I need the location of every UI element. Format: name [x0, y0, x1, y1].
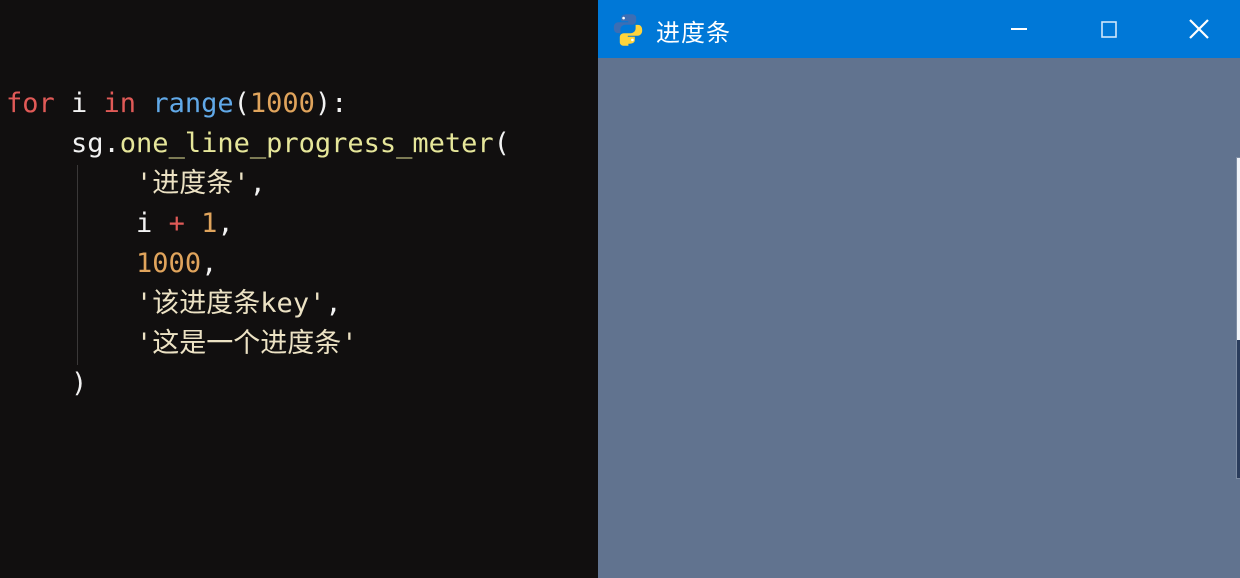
close-icon[interactable]	[1168, 0, 1230, 58]
code-token: +	[169, 208, 202, 239]
minimize-icon[interactable]	[988, 0, 1050, 58]
code-token: in	[104, 88, 153, 119]
progress-meter-window: 进度条 这是一个进度条 434 of 1000	[598, 0, 1240, 578]
code-editor-pane[interactable]: for i in range(1000): sg.one_line_progre…	[0, 0, 598, 578]
maximize-icon[interactable]	[1078, 0, 1140, 58]
code-token: (	[494, 128, 510, 159]
code-line: i + 1,	[0, 204, 598, 244]
code-token: sg.	[6, 128, 120, 159]
code-token: ,	[325, 288, 341, 319]
code-token: 1000	[136, 248, 201, 279]
code-line: '进度条',	[0, 164, 598, 204]
code-token	[6, 328, 136, 359]
code-token: 1	[201, 208, 217, 239]
window-titlebar[interactable]: 进度条	[598, 0, 1240, 58]
code-token: ,	[217, 208, 233, 239]
code-line: )	[0, 364, 598, 404]
code-token	[6, 288, 136, 319]
code-token: 1000	[250, 88, 315, 119]
code-token	[6, 168, 136, 199]
code-line: sg.one_line_progress_meter(	[0, 124, 598, 164]
code-token: ,	[201, 248, 217, 279]
code-token	[6, 248, 136, 279]
code-token: '进度条'	[136, 168, 250, 199]
code-token: )	[6, 368, 87, 399]
code-token: range	[152, 88, 233, 119]
code-token: '该进度条key'	[136, 288, 325, 319]
code-token: i	[71, 88, 104, 119]
code-token: for	[6, 88, 71, 119]
code-block[interactable]: for i in range(1000): sg.one_line_progre…	[0, 84, 598, 404]
code-line: '该进度条key',	[0, 284, 598, 324]
code-token: (	[234, 88, 250, 119]
code-line: for i in range(1000):	[0, 84, 598, 124]
screenshot-root: for i in range(1000): sg.one_line_progre…	[0, 0, 1240, 578]
python-logo-icon	[610, 11, 646, 47]
code-line: 1000,	[0, 244, 598, 284]
code-token: ):	[315, 88, 348, 119]
code-token: one_line_progress_meter	[120, 128, 494, 159]
code-token: '这是一个进度条'	[136, 328, 358, 359]
code-line: '这是一个进度条'	[0, 324, 598, 364]
code-token: ,	[250, 168, 266, 199]
code-token: i	[6, 208, 169, 239]
window-title-text: 进度条	[656, 13, 731, 48]
